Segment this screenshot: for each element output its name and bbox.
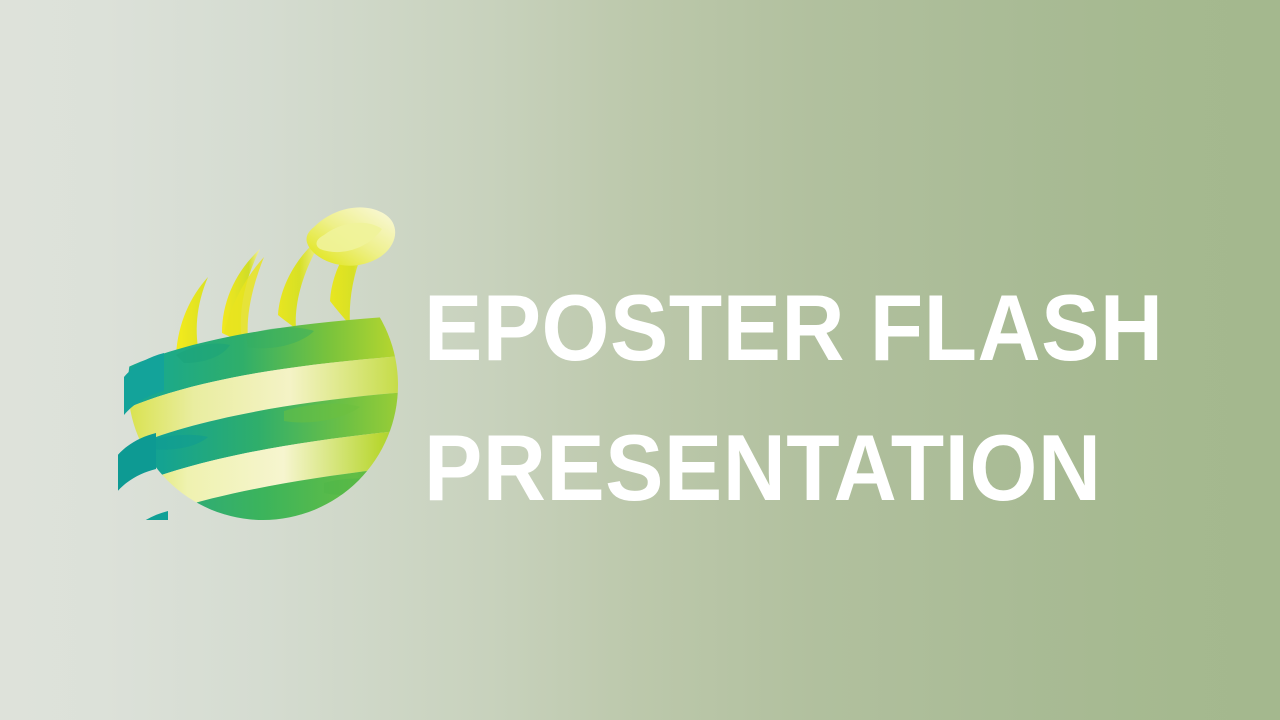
presentation-slide: EPOSTER FLASH PRESENTATION	[0, 0, 1280, 720]
slide-title: EPOSTER FLASH PRESENTATION	[424, 258, 1224, 538]
logo-globe-bands	[118, 315, 408, 520]
globe-ribbon-logo	[118, 205, 408, 520]
title-line-2: PRESENTATION	[424, 398, 1168, 538]
title-line-1: EPOSTER FLASH	[424, 258, 1168, 398]
